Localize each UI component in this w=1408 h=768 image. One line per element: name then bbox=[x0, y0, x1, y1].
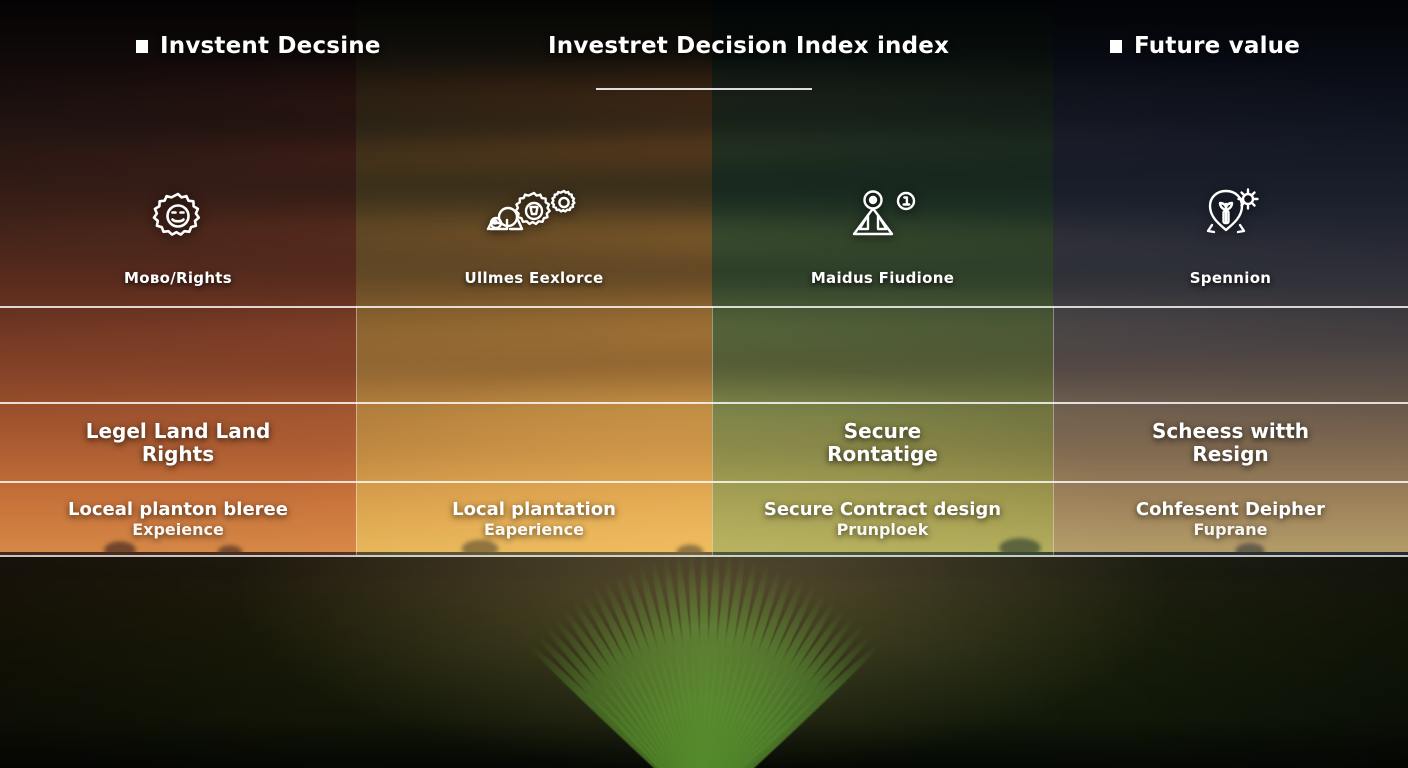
middle-cell-1-line1: Legel Land Land bbox=[86, 420, 271, 442]
bottom-cell-4: Cohfesent Deipher Fuprane bbox=[1053, 483, 1408, 555]
seedling-shield-sparkle-icon bbox=[1198, 185, 1264, 247]
middle-cell-2 bbox=[356, 404, 712, 481]
icon-label-3: Maidus Fiudione bbox=[811, 269, 954, 287]
bottom-cell-4-line1: Cohfesent Deipher bbox=[1136, 499, 1325, 521]
icon-label-4: Spennion bbox=[1190, 269, 1272, 287]
gear-face-icon bbox=[150, 185, 206, 247]
middle-cell-4-line2: Resign bbox=[1192, 443, 1268, 465]
divider-line-1 bbox=[0, 306, 1408, 308]
bottom-cell-2: Local plantation Eaperience bbox=[356, 483, 712, 555]
middle-cell-1: Legel Land Land Rights bbox=[0, 404, 356, 481]
header-right: Future value bbox=[1110, 33, 1300, 59]
field-vignette bbox=[0, 552, 1408, 768]
bottom-cell-3: Secure Contract design Prunploek bbox=[712, 483, 1053, 555]
icon-cell-4: Spennion bbox=[1053, 185, 1408, 295]
bottom-cell-1-line1: Loceal planton bleree bbox=[68, 499, 288, 521]
icon-cell-3: Maidus Fiudione bbox=[712, 185, 1053, 295]
middle-cell-3-line2: Rontatige bbox=[827, 443, 938, 465]
middle-text-band: Legel Land Land Rights Secure Rontatige … bbox=[0, 404, 1408, 481]
bottom-cell-3-line2: Prunploek bbox=[837, 520, 929, 539]
middle-cell-1-line2: Rights bbox=[142, 443, 214, 465]
bottom-cell-2-line1: Local plantation bbox=[452, 499, 616, 521]
icon-cell-1: Moвo/Rights bbox=[0, 185, 356, 295]
scale-balance-icon bbox=[846, 185, 920, 247]
header-left-label: Invstent Decsine bbox=[160, 33, 381, 59]
bottom-cell-2-line2: Eaperience bbox=[484, 520, 584, 539]
square-marker-icon bbox=[136, 40, 148, 53]
bottom-cell-4-line2: Fuprane bbox=[1194, 520, 1268, 539]
icon-label-2: Ullmes Eexlorce bbox=[465, 269, 604, 287]
bottom-cell-1: Loceal planton bleree Expeience bbox=[0, 483, 356, 555]
header-right-label: Future value bbox=[1134, 33, 1300, 59]
infographic-canvas: Invstent Decsine Investret Decision Inde… bbox=[0, 0, 1408, 768]
icon-label-1: Moвo/Rights bbox=[124, 269, 232, 287]
header-row: Invstent Decsine Investret Decision Inde… bbox=[0, 0, 1408, 110]
multi-gears-icon bbox=[480, 185, 588, 247]
middle-cell-4-line1: Scheess witth bbox=[1152, 420, 1309, 442]
bottom-cell-1-line2: Expeience bbox=[132, 520, 224, 539]
middle-cell-3-line1: Secure bbox=[844, 420, 922, 442]
divider-line-4 bbox=[0, 555, 1408, 557]
header-center-underline bbox=[596, 88, 812, 90]
bottom-text-band: Loceal planton bleree Expeience Local pl… bbox=[0, 483, 1408, 555]
icon-cell-2: Ullmes Eexlorce bbox=[356, 185, 712, 295]
crop-field bbox=[0, 552, 1408, 768]
header-left: Invstent Decsine bbox=[136, 33, 381, 59]
header-center: Investret Decision Index index bbox=[548, 33, 949, 59]
middle-cell-3: Secure Rontatige bbox=[712, 404, 1053, 481]
icon-row: Moвo/Rights Ullmes Eexlorce bbox=[0, 185, 1408, 295]
square-marker-icon bbox=[1110, 40, 1122, 53]
header-center-label: Investret Decision Index index bbox=[548, 33, 949, 59]
middle-cell-4: Scheess witth Resign bbox=[1053, 404, 1408, 481]
bottom-cell-3-line1: Secure Contract design bbox=[764, 499, 1001, 521]
